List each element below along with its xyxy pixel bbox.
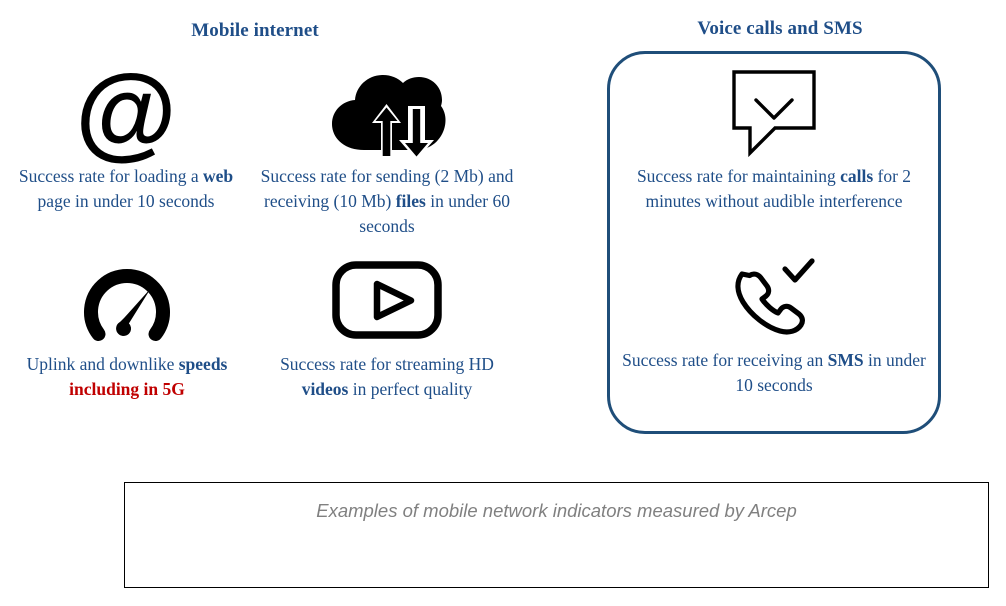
- speech-bubble-chevron-icon: [612, 62, 936, 162]
- cloud-upload-download-icon: [256, 62, 518, 162]
- slide-canvas: Mobile internet Voice calls and SMS @ Su…: [0, 0, 1006, 606]
- indicator-video: Success rate for streaming HD videos in …: [258, 250, 516, 402]
- text-run-bold: videos: [302, 379, 349, 399]
- text-run-bold: speeds: [179, 354, 228, 374]
- text-run-bold: web: [203, 166, 233, 186]
- video-play-icon: [258, 250, 516, 350]
- speedometer-icon: [12, 250, 242, 350]
- indicator-speed-caption: Uplink and downlike speeds including in …: [12, 352, 242, 402]
- text-run: Success rate for receiving an: [622, 350, 828, 370]
- text-run-bold: SMS: [828, 350, 864, 370]
- indicator-speed: Uplink and downlike speeds including in …: [12, 250, 242, 402]
- text-run: in perfect quality: [348, 379, 472, 399]
- figure-caption-text: Examples of mobile network indicators me…: [125, 500, 988, 522]
- indicator-video-caption: Success rate for streaming HD videos in …: [258, 352, 516, 402]
- text-run: Success rate for maintaining: [637, 166, 840, 186]
- text-run: Success rate for streaming HD: [280, 354, 494, 374]
- at-sign-icon: @: [8, 62, 244, 162]
- indicator-web: @ Success rate for loading a web page in…: [8, 62, 244, 214]
- indicator-sms: Success rate for receiving an SMS in und…: [612, 246, 936, 398]
- indicator-calls-caption: Success rate for maintaining calls for 2…: [612, 164, 936, 214]
- section-title-mobile-internet: Mobile internet: [0, 20, 510, 42]
- text-run: page in under 10 seconds: [38, 191, 215, 211]
- section-title-voice-calls-sms: Voice calls and SMS: [600, 18, 960, 40]
- indicator-sms-caption: Success rate for receiving an SMS in und…: [612, 348, 936, 398]
- phone-handset-check-icon: [612, 246, 936, 346]
- indicator-files: Success rate for sending (2 Mb) and rece…: [256, 62, 518, 239]
- indicator-calls: Success rate for maintaining calls for 2…: [612, 62, 936, 214]
- at-sign-glyph: @: [75, 72, 176, 152]
- text-run: Uplink and downlike: [27, 354, 179, 374]
- text-run: Success rate for loading a: [19, 166, 203, 186]
- figure-caption-box: Examples of mobile network indicators me…: [124, 482, 989, 588]
- text-run-bold: files: [396, 191, 426, 211]
- indicator-web-caption: Success rate for loading a web page in u…: [8, 164, 244, 214]
- text-run-bold: calls: [840, 166, 873, 186]
- text-run-highlight: including in 5G: [69, 379, 185, 399]
- indicator-files-caption: Success rate for sending (2 Mb) and rece…: [256, 164, 518, 239]
